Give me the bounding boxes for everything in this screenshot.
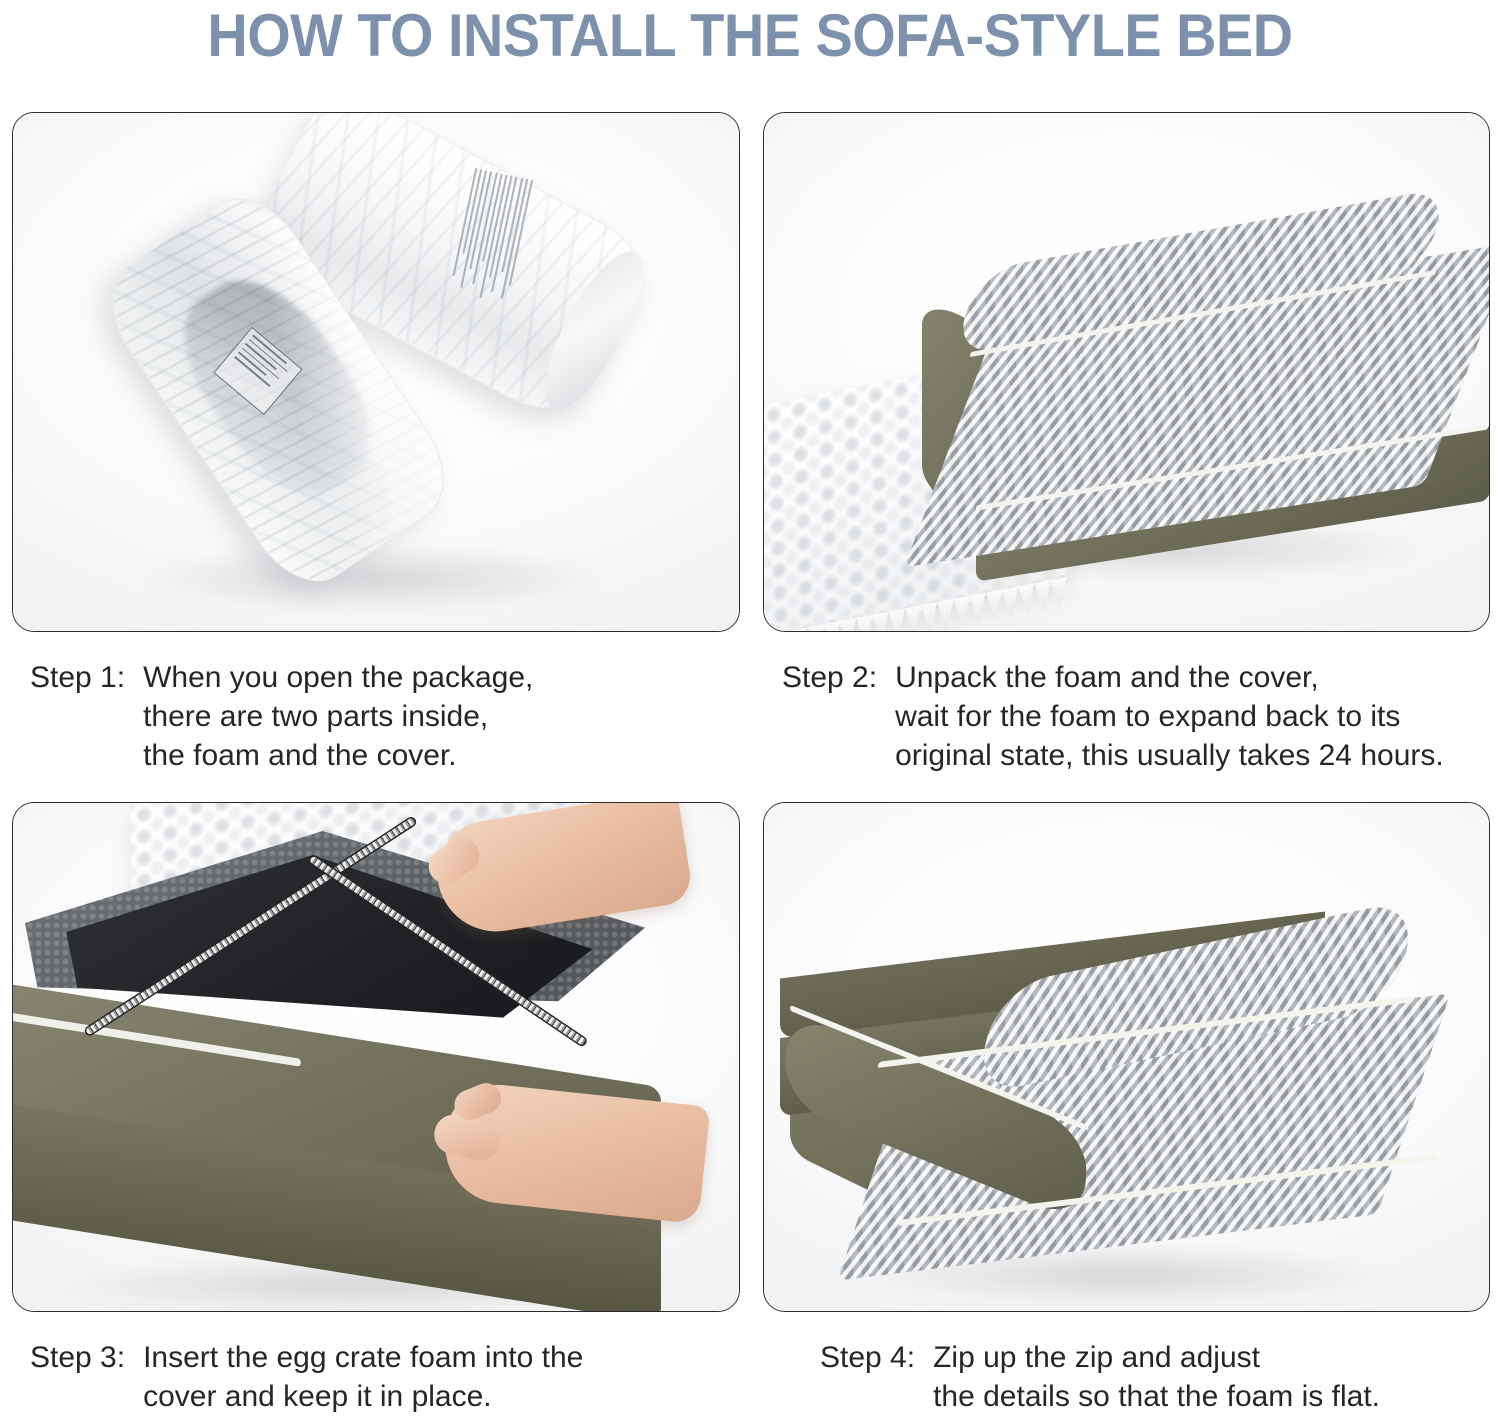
step-1-photo-panel — [12, 112, 740, 632]
step-1-text: When you open the package, there are two… — [143, 658, 730, 775]
step-4-label: Step 4: — [820, 1338, 915, 1377]
step-1-scene — [13, 113, 739, 631]
step-3-scene — [13, 803, 739, 1311]
finished-sofa-bed — [780, 945, 1470, 1275]
step-4-photo-panel — [763, 802, 1490, 1312]
step-1-caption: Step 1: When you open the package, there… — [30, 658, 730, 775]
step-2-label: Step 2: — [782, 658, 877, 697]
step-4-caption: Step 4: Zip up the zip and adjust the de… — [820, 1338, 1500, 1416]
step-3-text: Insert the egg crate foam into the cover… — [143, 1338, 730, 1416]
step-3-label: Step 3: — [30, 1338, 125, 1377]
step-4-text: Zip up the zip and adjust the details so… — [933, 1338, 1500, 1416]
step-2-photo-panel — [763, 112, 1490, 632]
page-title: HOW TO INSTALL THE SOFA-STYLE BED — [53, 0, 1448, 70]
step-1-label: Step 1: — [30, 658, 125, 697]
infographic-page: HOW TO INSTALL THE SOFA-STYLE BED — [0, 0, 1500, 1422]
step-3-caption: Step 3: Insert the egg crate foam into t… — [30, 1338, 730, 1416]
bed-cover-assembly — [916, 219, 1476, 549]
step-4-scene — [764, 803, 1489, 1311]
step-3-photo-panel — [12, 802, 740, 1312]
step-2-scene — [764, 113, 1489, 631]
step-2-caption: Step 2: Unpack the foam and the cover, w… — [782, 658, 1492, 775]
drop-shadow — [133, 543, 613, 613]
step-2-text: Unpack the foam and the cover, wait for … — [895, 658, 1492, 775]
